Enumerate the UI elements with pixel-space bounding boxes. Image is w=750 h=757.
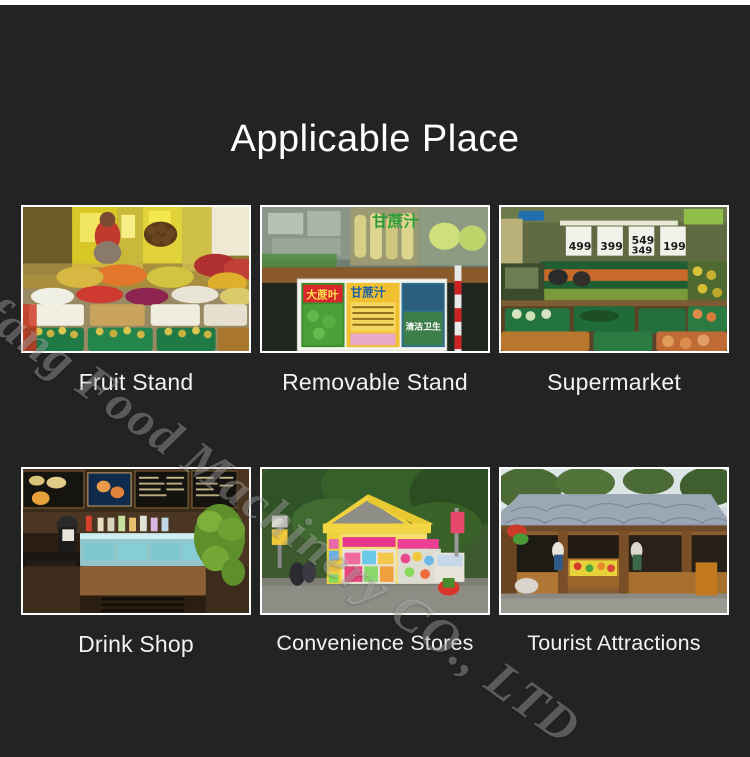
- drink-shop-photo[interactable]: [21, 467, 251, 615]
- svg-text:399: 399: [600, 240, 623, 253]
- supermarket-photo[interactable]: 499 399 549 349 199: [499, 205, 729, 353]
- svg-text:大蔗叶: 大蔗叶: [306, 289, 339, 302]
- gallery-row: Drink Shop: [21, 467, 729, 658]
- gallery-cell-removable-stand[interactable]: 甘蔗汁 大蔗叶 甘蔗汁: [260, 205, 490, 396]
- gallery-cell-fruit-stand[interactable]: Fruit Stand: [21, 205, 251, 396]
- gallery-cell-label: Removable Stand: [260, 369, 490, 396]
- gallery-cell-label: Supermarket: [499, 369, 729, 396]
- gallery-cell-drink-shop[interactable]: Drink Shop: [21, 467, 251, 658]
- applicable-place-panel: Applicable Place: [0, 0, 750, 757]
- tourist-attractions-photo[interactable]: [499, 467, 729, 615]
- svg-text:499: 499: [569, 240, 592, 253]
- gallery-cell-label: Drink Shop: [21, 631, 251, 658]
- top-white-strip: [0, 0, 750, 5]
- svg-text:甘蔗汁: 甘蔗汁: [372, 212, 419, 231]
- svg-text:甘蔗汁: 甘蔗汁: [350, 286, 386, 300]
- page-title: Applicable Place: [0, 118, 750, 161]
- gallery-row: Fruit Stand: [21, 205, 729, 396]
- fruit-stand-photo[interactable]: [21, 205, 251, 353]
- svg-text:349: 349: [632, 246, 653, 257]
- removable-stand-photo[interactable]: 甘蔗汁 大蔗叶 甘蔗汁: [260, 205, 490, 353]
- svg-text:199: 199: [663, 240, 686, 253]
- gallery-cell-tourist-attractions[interactable]: Tourist Attractions: [499, 467, 729, 658]
- gallery-cell-label: Convenience Stores: [260, 631, 490, 656]
- gallery-cell-label: Tourist Attractions: [499, 631, 729, 656]
- svg-text:清洁卫生: 清洁卫生: [405, 321, 441, 333]
- gallery-grid: Fruit Stand: [21, 205, 729, 658]
- gallery-cell-supermarket[interactable]: 499 399 549 349 199: [499, 205, 729, 396]
- gallery-cell-convenience-stores[interactable]: Convenience Stores: [260, 467, 490, 658]
- gallery-cell-label: Fruit Stand: [21, 369, 251, 396]
- convenience-store-photo[interactable]: [260, 467, 490, 615]
